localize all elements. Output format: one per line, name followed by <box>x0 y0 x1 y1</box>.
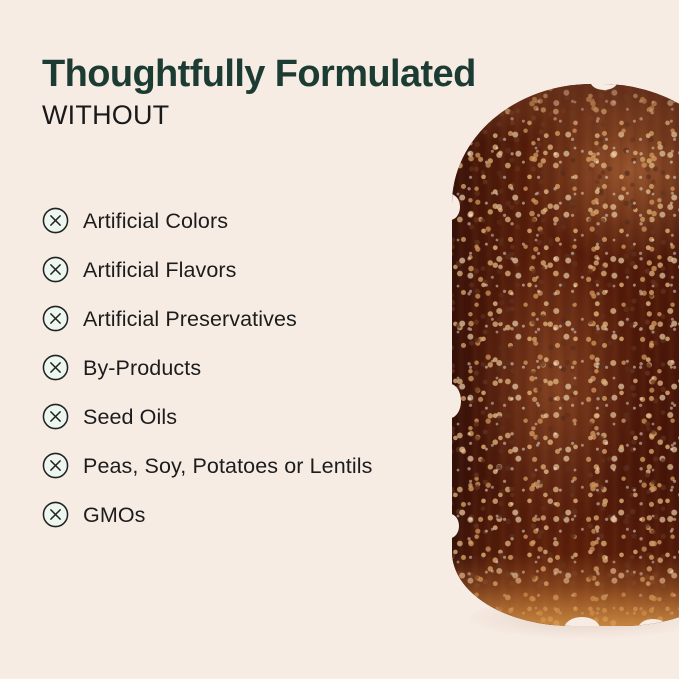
promo-card: Thoughtfully Formulated WITHOUT Artifici… <box>0 0 679 679</box>
list-item: Seed Oils <box>42 392 472 441</box>
product-top-edge <box>452 84 679 142</box>
list-item: Artificial Preservatives <box>42 294 472 343</box>
list-item-label: By-Products <box>83 355 201 381</box>
x-circle-icon <box>42 403 69 430</box>
x-circle-icon <box>42 207 69 234</box>
x-circle-icon <box>42 452 69 479</box>
list-item: Peas, Soy, Potatoes or Lentils <box>42 441 472 490</box>
list-item-label: Artificial Colors <box>83 208 228 234</box>
list-item-label: Artificial Preservatives <box>83 306 297 332</box>
x-circle-icon <box>42 305 69 332</box>
page-title: Thoughtfully Formulated <box>42 52 472 96</box>
list-item: By-Products <box>42 343 472 392</box>
product-bottom-edge <box>452 554 679 626</box>
product-chew-photo <box>452 84 679 626</box>
list-item: Artificial Flavors <box>42 245 472 294</box>
list-item-label: Seed Oils <box>83 404 177 430</box>
copy-block: Thoughtfully Formulated WITHOUT <box>42 52 472 131</box>
list-item: GMOs <box>42 490 472 539</box>
x-circle-icon <box>42 256 69 283</box>
page-subtitle: WITHOUT <box>42 100 472 131</box>
list-item-label: Artificial Flavors <box>83 257 237 283</box>
x-circle-icon <box>42 501 69 528</box>
x-circle-icon <box>42 354 69 381</box>
exclusion-list: Artificial Colors Artificial Flavors Art… <box>42 196 472 539</box>
list-item-label: GMOs <box>83 502 146 528</box>
list-item-label: Peas, Soy, Potatoes or Lentils <box>83 453 372 479</box>
list-item: Artificial Colors <box>42 196 472 245</box>
product-sparkle-layer <box>452 84 679 626</box>
